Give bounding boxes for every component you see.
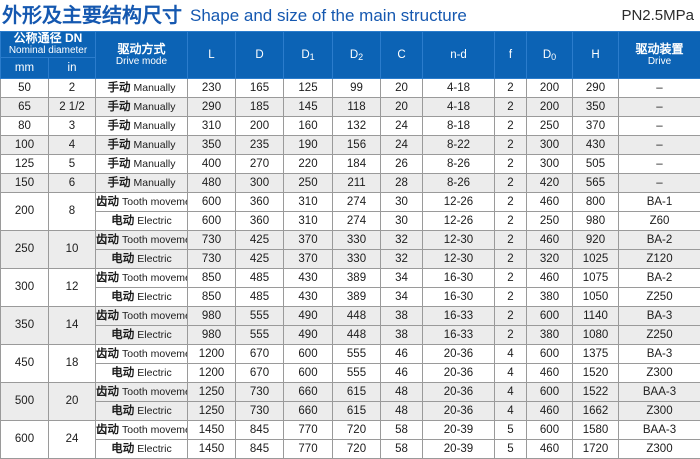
cell-d1: 430 <box>284 268 333 287</box>
cell-d0: 460 <box>527 230 573 249</box>
cell-nd: 20-36 <box>423 363 495 382</box>
cell-d: 235 <box>236 135 284 154</box>
cell-d0: 600 <box>527 306 573 325</box>
drive-mode-cn: 电动 <box>111 291 134 303</box>
drive-mode-en: Manually <box>133 177 175 189</box>
cell-d1: 430 <box>284 287 333 306</box>
cell-l: 290 <box>188 97 236 116</box>
cell-h: 565 <box>573 173 619 192</box>
cell-drive-device: BAA-3 <box>619 420 700 439</box>
cell-h: 920 <box>573 230 619 249</box>
drive-mode-cn: 电动 <box>111 367 134 379</box>
drive-mode-en: Manually <box>133 120 175 132</box>
cell-nominal-diameter-in: 4 <box>49 135 96 154</box>
cell-f: 5 <box>495 420 527 439</box>
cell-l: 230 <box>188 78 236 97</box>
drive-mode-cn: 手动 <box>107 120 130 132</box>
drive-mode-en: Tooth movement <box>122 234 188 246</box>
drive-mode-en: Electric <box>137 253 171 265</box>
drive-mode-cn: 电动 <box>111 215 134 227</box>
cell-c: 32 <box>381 249 423 268</box>
cell-d2: 720 <box>333 420 381 439</box>
cell-drive-mode: 电动Electric <box>96 249 188 268</box>
drive-mode-en: Manually <box>133 82 175 94</box>
cell-drive-mode: 齿动Tooth movement <box>96 306 188 325</box>
drive-mode-en: Tooth movement <box>122 348 188 360</box>
cell-f: 2 <box>495 78 527 97</box>
cell-f: 2 <box>495 173 527 192</box>
drive-mode-cn: 手动 <box>107 139 130 151</box>
cell-d: 360 <box>236 192 284 211</box>
cell-nd: 20-36 <box>423 401 495 420</box>
cell-nd: 4-18 <box>423 78 495 97</box>
cell-nd: 12-30 <box>423 230 495 249</box>
cell-d2: 156 <box>333 135 381 154</box>
drive-mode-en: Manually <box>133 139 175 151</box>
cell-d2: 720 <box>333 439 381 458</box>
cell-nd: 20-39 <box>423 439 495 458</box>
drive-mode-cn: 电动 <box>111 443 134 455</box>
cell-l: 600 <box>188 211 236 230</box>
header-row-top: 公称通径 DN Nominal diameter 驱动方式 Drive mode… <box>1 32 700 58</box>
cell-nominal-diameter-in: 3 <box>49 116 96 135</box>
table-row: 电动Electric8504854303893416-3023801050Z25… <box>1 287 700 306</box>
drive-mode-en: Manually <box>133 158 175 170</box>
drive-mode-en: Tooth movement <box>122 424 188 436</box>
cell-drive-mode: 手动Manually <box>96 154 188 173</box>
cell-nd: 16-33 <box>423 325 495 344</box>
cell-l: 350 <box>188 135 236 154</box>
table-row: 60024齿动Tooth movement14508457707205820-3… <box>1 420 700 439</box>
cell-nominal-diameter-mm: 80 <box>1 116 49 135</box>
header-nd: n-d <box>423 32 495 79</box>
drive-mode-cn: 手动 <box>107 158 130 170</box>
cell-h: 1025 <box>573 249 619 268</box>
header-nominal-diameter-cn: 公称通径 DN <box>14 32 83 45</box>
cell-h: 350 <box>573 97 619 116</box>
cell-d1: 770 <box>284 420 333 439</box>
header-d: D <box>236 32 284 79</box>
cell-nominal-diameter-in: 18 <box>49 344 96 382</box>
cell-c: 58 <box>381 439 423 458</box>
drive-mode-en: Electric <box>137 215 171 227</box>
spec-sheet-page: 外形及主要结构尺寸 Shape and size of the main str… <box>0 0 700 440</box>
cell-d0: 460 <box>527 268 573 287</box>
cell-c: 38 <box>381 306 423 325</box>
cell-f: 4 <box>495 401 527 420</box>
cell-f: 2 <box>495 249 527 268</box>
cell-drive-device: BA-2 <box>619 230 700 249</box>
page-title-en: Shape and size of the main structure <box>190 7 467 24</box>
drive-mode-en: Tooth movement <box>122 196 188 208</box>
drive-mode-cn: 齿动 <box>96 310 119 322</box>
cell-d: 425 <box>236 249 284 268</box>
cell-d1: 600 <box>284 363 333 382</box>
header-f: f <box>495 32 527 79</box>
drive-mode-en: Electric <box>137 443 171 455</box>
table-row: 25010齿动Tooth movement7304253703303212-30… <box>1 230 700 249</box>
cell-nominal-diameter-mm: 150 <box>1 173 49 192</box>
cell-nominal-diameter-mm: 600 <box>1 420 49 458</box>
cell-d0: 250 <box>527 116 573 135</box>
cell-c: 34 <box>381 268 423 287</box>
cell-d: 555 <box>236 306 284 325</box>
cell-d: 670 <box>236 344 284 363</box>
table-row: 35014齿动Tooth movement9805554904483816-33… <box>1 306 700 325</box>
drive-mode-cn: 手动 <box>107 82 130 94</box>
cell-h: 505 <box>573 154 619 173</box>
cell-nominal-diameter-mm: 450 <box>1 344 49 382</box>
table-row: 电动Electric6003603102743012-262250980Z60 <box>1 211 700 230</box>
cell-d: 845 <box>236 420 284 439</box>
cell-d2: 615 <box>333 382 381 401</box>
cell-d2: 132 <box>333 116 381 135</box>
cell-d: 730 <box>236 382 284 401</box>
cell-l: 730 <box>188 249 236 268</box>
cell-d2: 118 <box>333 97 381 116</box>
table-row: 电动Electric7304253703303212-3023201025Z12… <box>1 249 700 268</box>
cell-d2: 555 <box>333 363 381 382</box>
cell-nd: 20-39 <box>423 420 495 439</box>
cell-drive-device: BA-2 <box>619 268 700 287</box>
cell-d2: 330 <box>333 249 381 268</box>
cell-l: 1200 <box>188 344 236 363</box>
cell-d2: 274 <box>333 192 381 211</box>
drive-mode-en: Manually <box>133 101 175 113</box>
table-row: 502手动Manually23016512599204-182200290– <box>1 78 700 97</box>
cell-nominal-diameter-in: 2 1/2 <box>49 97 96 116</box>
header-drive-device: 驱动装置 Drive <box>619 32 700 79</box>
cell-d0: 460 <box>527 439 573 458</box>
header-d0: D0 <box>527 32 573 79</box>
drive-mode-cn: 齿动 <box>96 424 119 436</box>
cell-d: 845 <box>236 439 284 458</box>
cell-c: 46 <box>381 344 423 363</box>
cell-l: 850 <box>188 287 236 306</box>
cell-f: 4 <box>495 344 527 363</box>
cell-f: 4 <box>495 363 527 382</box>
page-title-cn: 外形及主要结构尺寸 <box>2 6 182 26</box>
cell-drive-mode: 手动Manually <box>96 135 188 154</box>
cell-l: 1450 <box>188 420 236 439</box>
cell-d1: 125 <box>284 78 333 97</box>
title-bar: 外形及主要结构尺寸 Shape and size of the main str… <box>0 0 700 31</box>
cell-h: 370 <box>573 116 619 135</box>
table-row: 50020齿动Tooth movement12507306606154820-3… <box>1 382 700 401</box>
cell-drive-mode: 齿动Tooth movement <box>96 192 188 211</box>
cell-d: 300 <box>236 173 284 192</box>
cell-f: 2 <box>495 154 527 173</box>
header-nominal-diameter: 公称通径 DN Nominal diameter <box>1 32 96 58</box>
cell-d0: 320 <box>527 249 573 268</box>
header-nominal-diameter-en: Nominal diameter <box>9 45 87 56</box>
cell-d2: 448 <box>333 325 381 344</box>
cell-f: 2 <box>495 135 527 154</box>
cell-d1: 145 <box>284 97 333 116</box>
cell-drive-mode: 电动Electric <box>96 401 188 420</box>
cell-nominal-diameter-in: 12 <box>49 268 96 306</box>
cell-d: 185 <box>236 97 284 116</box>
cell-nominal-diameter-in: 10 <box>49 230 96 268</box>
cell-h: 800 <box>573 192 619 211</box>
cell-f: 2 <box>495 116 527 135</box>
table-row: 2008齿动Tooth movement6003603102743012-262… <box>1 192 700 211</box>
cell-d1: 770 <box>284 439 333 458</box>
cell-f: 2 <box>495 211 527 230</box>
drive-mode-en: Tooth movement <box>122 386 188 398</box>
cell-d1: 370 <box>284 230 333 249</box>
cell-d2: 389 <box>333 287 381 306</box>
header-d2: D2 <box>333 32 381 79</box>
cell-d0: 380 <box>527 325 573 344</box>
cell-c: 46 <box>381 363 423 382</box>
cell-nominal-diameter-mm: 250 <box>1 230 49 268</box>
header-unit-mm: mm <box>1 57 49 78</box>
cell-f: 2 <box>495 306 527 325</box>
drive-mode-en: Electric <box>137 367 171 379</box>
cell-d2: 330 <box>333 230 381 249</box>
cell-nd: 8-26 <box>423 173 495 192</box>
cell-c: 24 <box>381 135 423 154</box>
cell-d0: 200 <box>527 78 573 97</box>
cell-drive-mode: 齿动Tooth movement <box>96 268 188 287</box>
cell-d0: 300 <box>527 135 573 154</box>
cell-d0: 600 <box>527 382 573 401</box>
cell-drive-device: Z250 <box>619 287 700 306</box>
table-row: 电动Electric12006706005554620-3644601520Z3… <box>1 363 700 382</box>
cell-l: 1250 <box>188 401 236 420</box>
cell-nd: 12-30 <box>423 249 495 268</box>
drive-mode-cn: 电动 <box>111 253 134 265</box>
cell-d1: 220 <box>284 154 333 173</box>
cell-d2: 615 <box>333 401 381 420</box>
cell-drive-mode: 手动Manually <box>96 116 188 135</box>
cell-drive-mode: 齿动Tooth movement <box>96 230 188 249</box>
header-unit-in: in <box>49 57 96 78</box>
drive-mode-cn: 齿动 <box>96 196 119 208</box>
cell-nominal-diameter-in: 24 <box>49 420 96 458</box>
cell-d0: 380 <box>527 287 573 306</box>
drive-mode-cn: 电动 <box>111 329 134 341</box>
cell-l: 980 <box>188 325 236 344</box>
cell-h: 1520 <box>573 363 619 382</box>
cell-drive-device: Z120 <box>619 249 700 268</box>
cell-h: 290 <box>573 78 619 97</box>
header-c: C <box>381 32 423 79</box>
cell-l: 1450 <box>188 439 236 458</box>
cell-d: 485 <box>236 287 284 306</box>
cell-nd: 8-22 <box>423 135 495 154</box>
cell-drive-device: BA-1 <box>619 192 700 211</box>
cell-drive-device: BA-3 <box>619 344 700 363</box>
cell-d0: 600 <box>527 420 573 439</box>
cell-d2: 448 <box>333 306 381 325</box>
cell-c: 20 <box>381 97 423 116</box>
cell-d2: 389 <box>333 268 381 287</box>
cell-nd: 8-26 <box>423 154 495 173</box>
cell-drive-device: Z60 <box>619 211 700 230</box>
cell-nd: 16-33 <box>423 306 495 325</box>
cell-d2: 184 <box>333 154 381 173</box>
drive-mode-en: Tooth movement <box>122 272 188 284</box>
cell-drive-mode: 电动Electric <box>96 363 188 382</box>
drive-mode-cn: 手动 <box>107 101 130 113</box>
drive-mode-en: Electric <box>137 329 171 341</box>
cell-drive-mode: 手动Manually <box>96 173 188 192</box>
cell-f: 4 <box>495 382 527 401</box>
cell-d1: 490 <box>284 306 333 325</box>
table-row: 652 1/2手动Manually290185145118204-1822003… <box>1 97 700 116</box>
header-d1: D1 <box>284 32 333 79</box>
cell-d0: 600 <box>527 344 573 363</box>
cell-h: 1580 <box>573 420 619 439</box>
cell-drive-mode: 电动Electric <box>96 211 188 230</box>
cell-c: 30 <box>381 211 423 230</box>
cell-nominal-diameter-in: 6 <box>49 173 96 192</box>
cell-nominal-diameter-mm: 300 <box>1 268 49 306</box>
table-row: 电动Electric12507306606154820-3644601662Z3… <box>1 401 700 420</box>
cell-nominal-diameter-in: 8 <box>49 192 96 230</box>
cell-c: 38 <box>381 325 423 344</box>
cell-c: 58 <box>381 420 423 439</box>
cell-drive-device: – <box>619 135 700 154</box>
cell-d1: 190 <box>284 135 333 154</box>
header-drive-device-cn: 驱动装置 <box>635 43 683 56</box>
header-h: H <box>573 32 619 79</box>
cell-drive-device: – <box>619 173 700 192</box>
specification-table: 公称通径 DN Nominal diameter 驱动方式 Drive mode… <box>0 31 700 459</box>
table-row: 803手动Manually310200160132248-182250370– <box>1 116 700 135</box>
cell-h: 1522 <box>573 382 619 401</box>
cell-drive-mode: 电动Electric <box>96 439 188 458</box>
cell-drive-device: Z300 <box>619 363 700 382</box>
cell-nd: 20-36 <box>423 382 495 401</box>
cell-c: 28 <box>381 173 423 192</box>
drive-mode-cn: 电动 <box>111 405 134 417</box>
cell-d: 730 <box>236 401 284 420</box>
cell-nominal-diameter-mm: 100 <box>1 135 49 154</box>
cell-nominal-diameter-mm: 125 <box>1 154 49 173</box>
cell-h: 1075 <box>573 268 619 287</box>
cell-nd: 4-18 <box>423 97 495 116</box>
cell-nominal-diameter-mm: 50 <box>1 78 49 97</box>
cell-d: 670 <box>236 363 284 382</box>
cell-h: 1050 <box>573 287 619 306</box>
cell-l: 600 <box>188 192 236 211</box>
table-row: 电动Electric9805554904483816-3323801080Z25… <box>1 325 700 344</box>
drive-mode-cn: 齿动 <box>96 348 119 360</box>
drive-mode-cn: 齿动 <box>96 272 119 284</box>
cell-d0: 200 <box>527 97 573 116</box>
cell-drive-device: Z300 <box>619 401 700 420</box>
table-row: 1255手动Manually400270220184268-262300505– <box>1 154 700 173</box>
cell-f: 2 <box>495 287 527 306</box>
cell-h: 1375 <box>573 344 619 363</box>
cell-drive-device: – <box>619 116 700 135</box>
cell-drive-mode: 齿动Tooth movement <box>96 420 188 439</box>
cell-d1: 600 <box>284 344 333 363</box>
cell-nd: 12-26 <box>423 192 495 211</box>
cell-d: 555 <box>236 325 284 344</box>
cell-d0: 250 <box>527 211 573 230</box>
table-header: 公称通径 DN Nominal diameter 驱动方式 Drive mode… <box>1 32 700 79</box>
cell-l: 850 <box>188 268 236 287</box>
cell-d1: 370 <box>284 249 333 268</box>
cell-drive-mode: 电动Electric <box>96 325 188 344</box>
cell-nominal-diameter-in: 20 <box>49 382 96 420</box>
cell-nd: 16-30 <box>423 268 495 287</box>
cell-f: 2 <box>495 268 527 287</box>
cell-d: 270 <box>236 154 284 173</box>
cell-d: 425 <box>236 230 284 249</box>
cell-drive-device: – <box>619 78 700 97</box>
table-row: 45018齿动Tooth movement12006706005554620-3… <box>1 344 700 363</box>
cell-d1: 660 <box>284 382 333 401</box>
cell-d1: 490 <box>284 325 333 344</box>
cell-c: 20 <box>381 78 423 97</box>
cell-d: 165 <box>236 78 284 97</box>
cell-d1: 310 <box>284 211 333 230</box>
cell-l: 1250 <box>188 382 236 401</box>
cell-d2: 211 <box>333 173 381 192</box>
header-l: L <box>188 32 236 79</box>
cell-drive-mode: 手动Manually <box>96 97 188 116</box>
cell-drive-mode: 齿动Tooth movement <box>96 382 188 401</box>
cell-nominal-diameter-in: 14 <box>49 306 96 344</box>
cell-nominal-diameter-mm: 350 <box>1 306 49 344</box>
cell-c: 26 <box>381 154 423 173</box>
drive-mode-en: Tooth movement <box>122 310 188 322</box>
drive-mode-en: Electric <box>137 291 171 303</box>
cell-f: 5 <box>495 439 527 458</box>
cell-drive-device: – <box>619 97 700 116</box>
cell-c: 34 <box>381 287 423 306</box>
cell-h: 1662 <box>573 401 619 420</box>
header-drive-mode-en: Drive mode <box>116 56 167 67</box>
cell-l: 1200 <box>188 363 236 382</box>
cell-c: 48 <box>381 401 423 420</box>
cell-nd: 8-18 <box>423 116 495 135</box>
cell-d2: 555 <box>333 344 381 363</box>
cell-nd: 20-36 <box>423 344 495 363</box>
cell-d: 485 <box>236 268 284 287</box>
drive-mode-cn: 齿动 <box>96 386 119 398</box>
cell-drive-device: BAA-3 <box>619 382 700 401</box>
cell-nominal-diameter-mm: 200 <box>1 192 49 230</box>
cell-d0: 460 <box>527 192 573 211</box>
cell-nominal-diameter-mm: 500 <box>1 382 49 420</box>
cell-f: 2 <box>495 230 527 249</box>
cell-l: 730 <box>188 230 236 249</box>
cell-d2: 274 <box>333 211 381 230</box>
table-body: 502手动Manually23016512599204-182200290–65… <box>1 78 700 458</box>
cell-drive-mode: 齿动Tooth movement <box>96 344 188 363</box>
cell-drive-mode: 电动Electric <box>96 287 188 306</box>
cell-d: 200 <box>236 116 284 135</box>
cell-nominal-diameter-in: 5 <box>49 154 96 173</box>
header-drive-mode-cn: 驱动方式 <box>117 43 165 56</box>
cell-drive-device: Z250 <box>619 325 700 344</box>
cell-nominal-diameter-mm: 65 <box>1 97 49 116</box>
cell-c: 24 <box>381 116 423 135</box>
header-drive-mode: 驱动方式 Drive mode <box>96 32 188 79</box>
table-row: 1004手动Manually350235190156248-222300430– <box>1 135 700 154</box>
cell-c: 32 <box>381 230 423 249</box>
cell-l: 400 <box>188 154 236 173</box>
cell-h: 1080 <box>573 325 619 344</box>
cell-d1: 310 <box>284 192 333 211</box>
drive-mode-cn: 齿动 <box>96 234 119 246</box>
